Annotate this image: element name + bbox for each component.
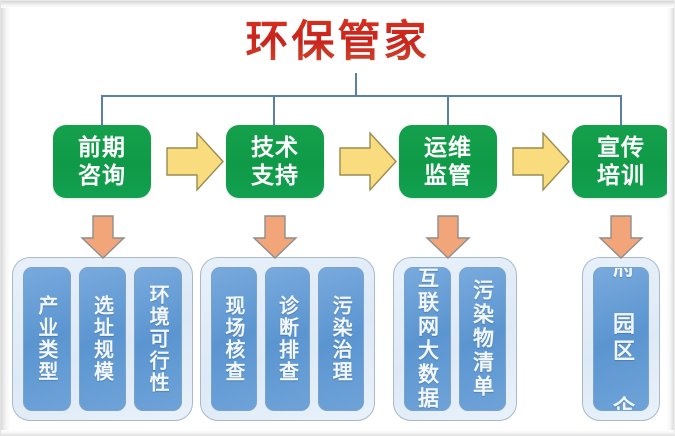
arrow-right-icon-2 — [337, 130, 399, 193]
chip-on-site-verification[interactable]: 现场核查 — [211, 267, 257, 411]
chip-label: 选址规模 — [92, 295, 114, 383]
stage-operation-supervision[interactable]: 运维监管 — [399, 125, 497, 198]
stage-label: 技术支持 — [249, 134, 302, 190]
chip-pollutant-inventory[interactable]: 污染物清单 — [459, 267, 506, 411]
diagram-title: 环保管家 — [1, 17, 674, 67]
connector-drop-1 — [101, 95, 103, 125]
chip-label: 产业类型 — [36, 295, 58, 383]
chip-government-park-enterprise[interactable]: 政府 园区 企业 — [593, 267, 649, 411]
diagram-canvas: 环保管家 前期咨询 产业类型 选址规模 环境可行性 技术支持 — [0, 0, 675, 436]
chip-site-scale[interactable]: 选址规模 — [79, 267, 127, 411]
chip-environmental-feasibility[interactable]: 环境可行性 — [134, 267, 182, 411]
arrow-down-icon-1 — [79, 214, 127, 260]
chip-pollution-control[interactable]: 污染治理 — [318, 267, 364, 411]
chip-label: 互联网大数据 — [417, 267, 439, 411]
arrow-right-icon-3 — [510, 130, 572, 193]
stage-label: 运维监管 — [422, 134, 475, 190]
stage-label: 前期咨询 — [76, 134, 129, 190]
connector-drop-3 — [447, 95, 449, 125]
stage-technical-support[interactable]: 技术支持 — [226, 125, 324, 198]
chip-label: 环境可行性 — [147, 284, 169, 394]
connector-bar — [101, 95, 622, 97]
chip-label: 诊断排查 — [277, 295, 299, 383]
page-bottom-edge — [1, 430, 674, 436]
chip-industry-type[interactable]: 产业类型 — [23, 267, 71, 411]
chip-label: 污染治理 — [330, 295, 352, 383]
chip-label: 污染物清单 — [472, 279, 494, 399]
arrow-down-icon-2 — [251, 214, 299, 260]
arrow-down-icon-3 — [424, 214, 472, 260]
page-top-edge — [1, 1, 674, 8]
arrow-right-icon-1 — [164, 130, 226, 193]
stage-preliminary-consultation[interactable]: 前期咨询 — [53, 125, 151, 198]
connector-drop-2 — [273, 95, 275, 125]
stage-label: 宣传培训 — [595, 134, 648, 190]
arrow-down-icon-4 — [597, 214, 645, 260]
group-technical-support: 现场核查 诊断排查 污染治理 — [200, 257, 375, 421]
stage-publicity-training[interactable]: 宣传培训 — [572, 125, 670, 198]
group-publicity-training: 政府 园区 企业 — [582, 257, 660, 421]
chip-internet-big-data[interactable]: 互联网大数据 — [404, 267, 451, 411]
connector-drop-4 — [620, 95, 622, 125]
group-operation-supervision: 互联网大数据 污染物清单 — [393, 257, 517, 421]
chip-diagnostic-investigation[interactable]: 诊断排查 — [265, 267, 311, 411]
group-preliminary-consultation: 产业类型 选址规模 环境可行性 — [12, 257, 193, 421]
chip-label: 政府 园区 企业 — [610, 267, 632, 411]
connector-stem — [355, 73, 357, 97]
chip-label: 现场核查 — [223, 295, 245, 383]
